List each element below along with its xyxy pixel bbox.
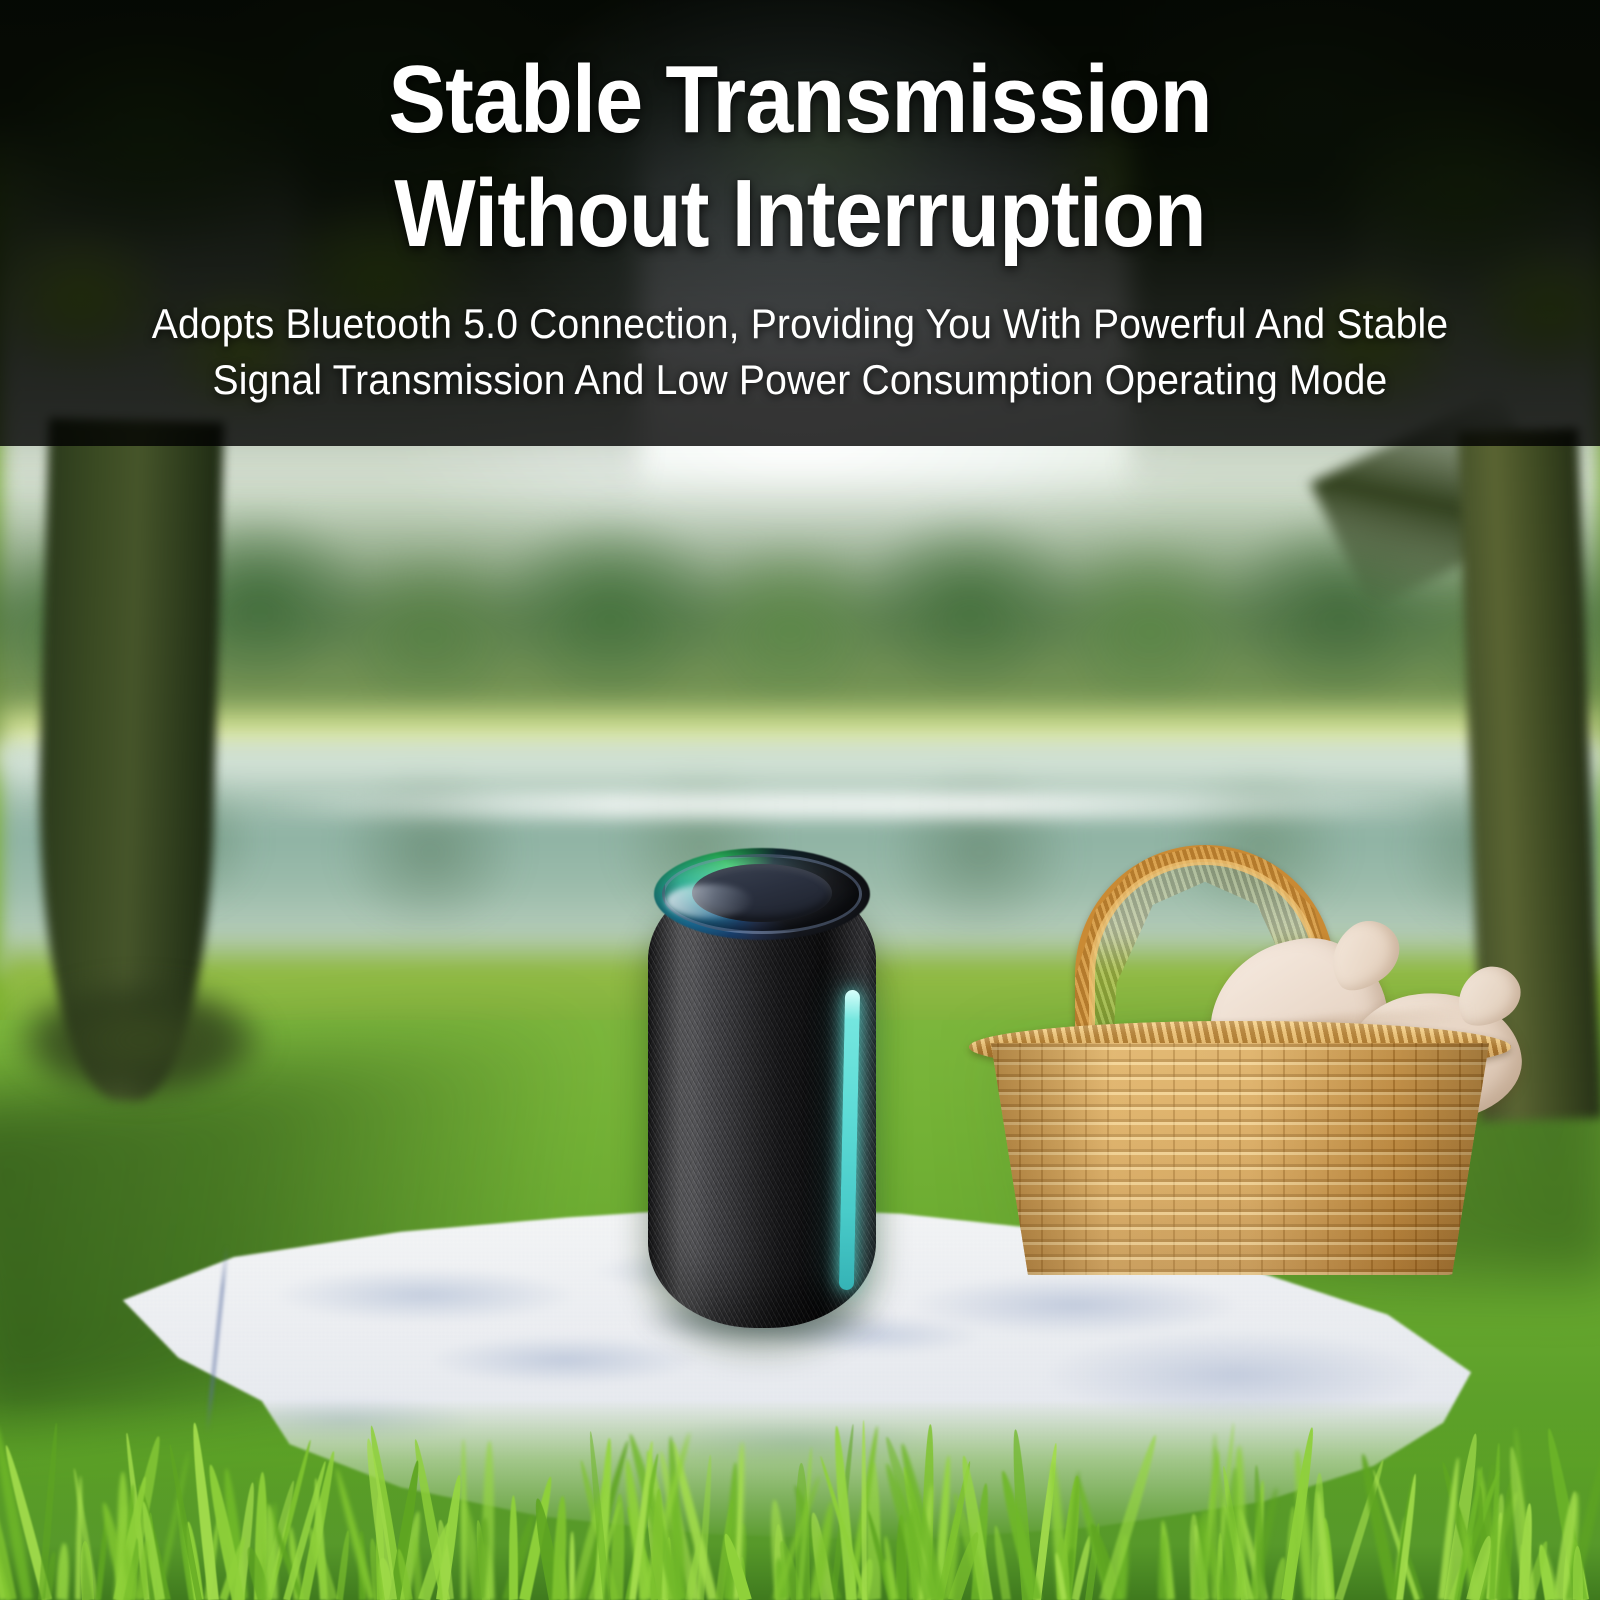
- grass-blade: [460, 1439, 467, 1600]
- lake-glint: [260, 792, 1440, 818]
- subheadline-line-1: Adopts Bluetooth 5.0 Connection, Providi…: [56, 296, 1544, 352]
- grass-blade: [509, 1495, 518, 1600]
- product-banner-image: Stable Transmission Without Interruption…: [0, 0, 1600, 1600]
- basket-body: [975, 1043, 1505, 1275]
- grass-blade: [861, 1420, 867, 1600]
- picnic-basket: [975, 845, 1505, 1285]
- basket-shading: [975, 1043, 1505, 1275]
- grass-blade: [1317, 1555, 1324, 1600]
- grass-blade: [1099, 1434, 1161, 1600]
- speaker-top-highlight: [666, 884, 752, 918]
- tree-base-left: [10, 980, 280, 1120]
- grass-blade: [56, 1542, 71, 1600]
- headline-line-2: Without Interruption: [80, 166, 1520, 262]
- grass-blade: [336, 1530, 352, 1600]
- header-text-block: Stable Transmission Without Interruption…: [0, 0, 1600, 446]
- grass-blade: [991, 1525, 1011, 1600]
- headline-line-1: Stable Transmission: [80, 52, 1520, 148]
- bluetooth-speaker: [648, 848, 876, 1328]
- foreground-grass: [0, 1400, 1600, 1600]
- subheadline-line-2: Signal Transmission And Low Power Consum…: [56, 352, 1544, 408]
